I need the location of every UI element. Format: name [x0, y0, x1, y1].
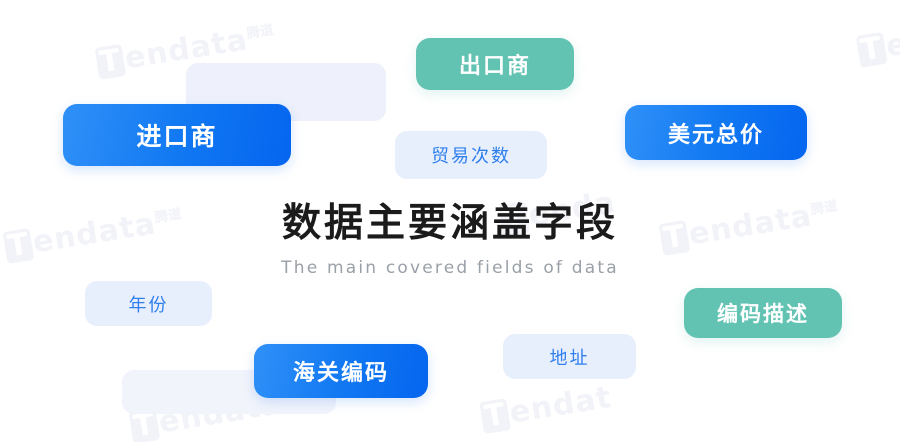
watermark-badge-icon: T	[659, 220, 691, 256]
field-tag-label: 美元总价	[668, 117, 764, 149]
canvas: Tendata腾道Tendata腾道Tendata腾道TeTendatTenda…	[0, 0, 900, 442]
field-tag-trade-count[interactable]: 贸易次数	[395, 131, 547, 179]
field-tag-usd-total[interactable]: 美元总价	[625, 105, 807, 160]
tendata-watermark: Te	[856, 28, 900, 67]
watermark-badge-icon: T	[856, 32, 888, 68]
watermark-text-cn: 腾道	[154, 206, 183, 226]
watermark-badge-icon: T	[479, 398, 511, 434]
field-tag-label: 编码描述	[717, 298, 809, 328]
field-tag-label: 出口商	[459, 48, 531, 80]
field-tag-importer[interactable]: 进口商	[63, 104, 291, 166]
field-tag-label: 地址	[550, 344, 590, 370]
field-tag-address[interactable]: 地址	[503, 334, 636, 379]
watermark-text: endata	[686, 198, 814, 252]
field-tag-label: 贸易次数	[431, 142, 511, 168]
page-heading: 数据主要涵盖字段 The main covered fields of data	[0, 200, 900, 278]
field-tag-exporter[interactable]: 出口商	[416, 38, 574, 90]
tendata-watermark: Tendata腾道	[3, 204, 185, 264]
field-tag-hs-desc[interactable]: 编码描述	[684, 288, 842, 338]
watermark-badge-icon: T	[498, 201, 530, 237]
tendata-watermark: Tendata腾道	[95, 20, 277, 80]
watermark-text: endata	[122, 22, 250, 76]
field-tag-year[interactable]: 年份	[85, 281, 212, 326]
field-tag-label: 年份	[129, 291, 169, 317]
tendata-watermark: Tendat	[479, 382, 614, 434]
field-tag-label: 海关编码	[293, 355, 389, 387]
watermark-text: e	[884, 26, 900, 64]
watermark-text: endata	[30, 206, 158, 260]
watermark-badge-icon: T	[95, 44, 127, 80]
tendata-watermark: Tendata腾道	[659, 196, 841, 256]
watermark-text-cn: 腾道	[810, 198, 839, 218]
watermark-text: enda	[526, 185, 618, 233]
watermark-badge-icon: T	[3, 228, 35, 264]
tendata-watermark: Tenda	[498, 187, 617, 237]
page-title: 数据主要涵盖字段	[0, 200, 900, 249]
watermark-text: endat	[507, 380, 614, 431]
page-subtitle: The main covered fields of data	[0, 258, 900, 278]
watermark-badge-icon: T	[129, 408, 161, 442]
field-tag-label: 进口商	[136, 117, 217, 153]
watermark-text-cn: 腾道	[246, 22, 275, 42]
field-tag-hs-code[interactable]: 海关编码	[254, 344, 428, 398]
